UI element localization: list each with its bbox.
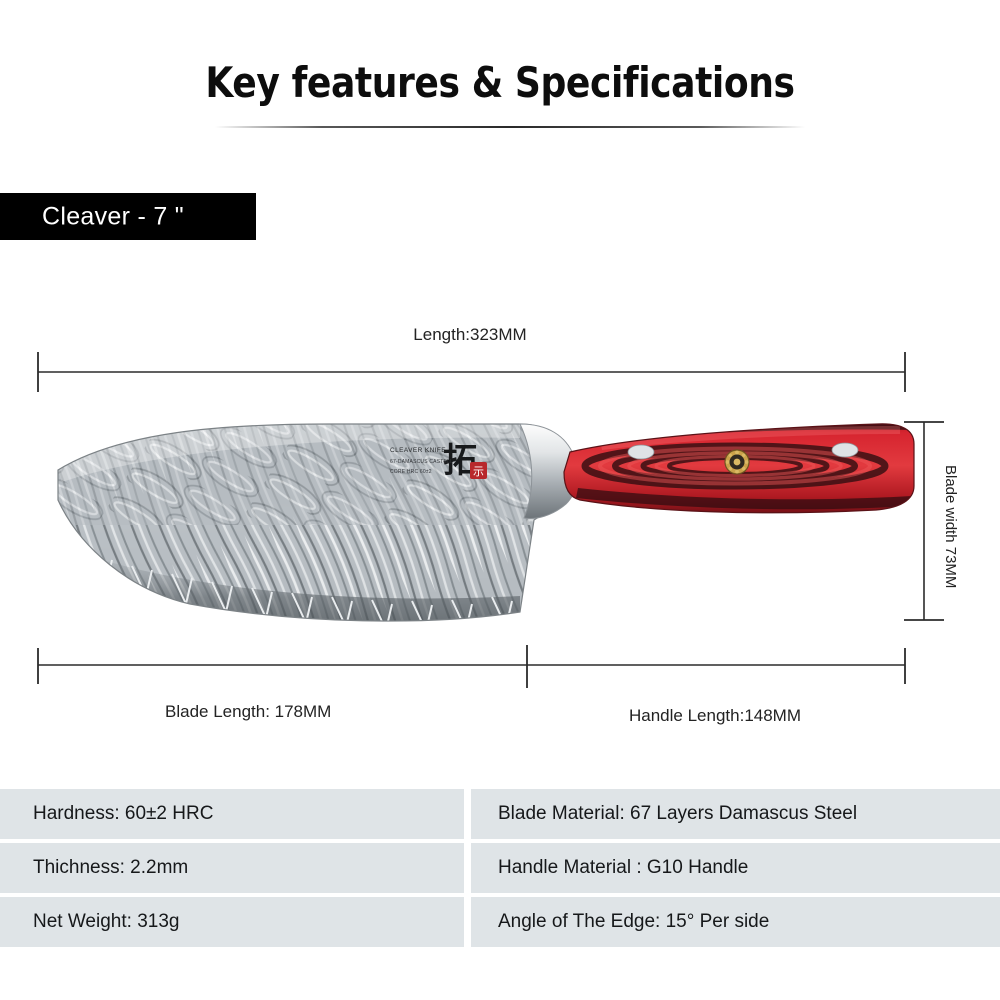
engraving-line-1: CLEAVER KNIFE: [390, 447, 446, 454]
spec-cell-thickness: Thichness: 2.2mm: [0, 843, 464, 893]
spec-cell-hardness: Hardness: 60±2 HRC: [0, 789, 464, 839]
segment-dimension: [38, 645, 905, 688]
blade-width-label-line2: 73MM: [942, 547, 959, 589]
blade: [40, 415, 580, 640]
dimension-lines: [38, 352, 944, 688]
handle-pin-front: [628, 445, 654, 459]
blade-length-dimension-label: Blade Length: 178MM: [165, 702, 331, 722]
spec-cell-blade-material: Blade Material: 67 Layers Damascus Steel: [471, 789, 1000, 839]
width-dimension: [904, 422, 944, 620]
brand-seal-box: [470, 462, 487, 479]
blade-engraving: 拓 示 CLEAVER KNIFE 67-DAMASCUS CASTELL CO…: [390, 441, 487, 481]
handle-outline: [564, 424, 914, 513]
bolster: [520, 424, 577, 518]
blade-width-dimension-label: Blade width 73MM: [940, 465, 959, 588]
engraving-line-2: 67-DAMASCUS CASTELL: [390, 459, 453, 465]
length-dimension: [38, 352, 905, 392]
spec-cell-handle-material: Handle Material : G10 Handle: [471, 843, 1000, 893]
mosaic-pin: [725, 450, 749, 474]
handle-length-dimension-label: Handle Length:148MM: [629, 706, 801, 726]
specifications-table: Hardness: 60±2 HRC Blade Material: 67 La…: [0, 789, 1000, 947]
brand-seal-character: 示: [473, 465, 484, 478]
brand-logo-character: 拓: [443, 441, 477, 481]
length-dimension-label: Length:323MM: [0, 325, 940, 345]
blade-width-label-line1: Blade width: [942, 465, 959, 543]
blade-serrations: [92, 556, 512, 631]
spec-cell-net-weight: Net Weight: 313g: [0, 897, 464, 947]
blade-outline: [58, 424, 566, 621]
spec-cell-edge-angle: Angle of The Edge: 15° Per side: [471, 897, 1000, 947]
knife-body: 拓 示 CLEAVER KNIFE 67-DAMASCUS CASTELL CO…: [40, 415, 925, 640]
engraving-line-3: CORE HRC 60±2: [390, 469, 432, 475]
handle-pin-rear: [832, 443, 858, 457]
handle: [560, 415, 925, 525]
